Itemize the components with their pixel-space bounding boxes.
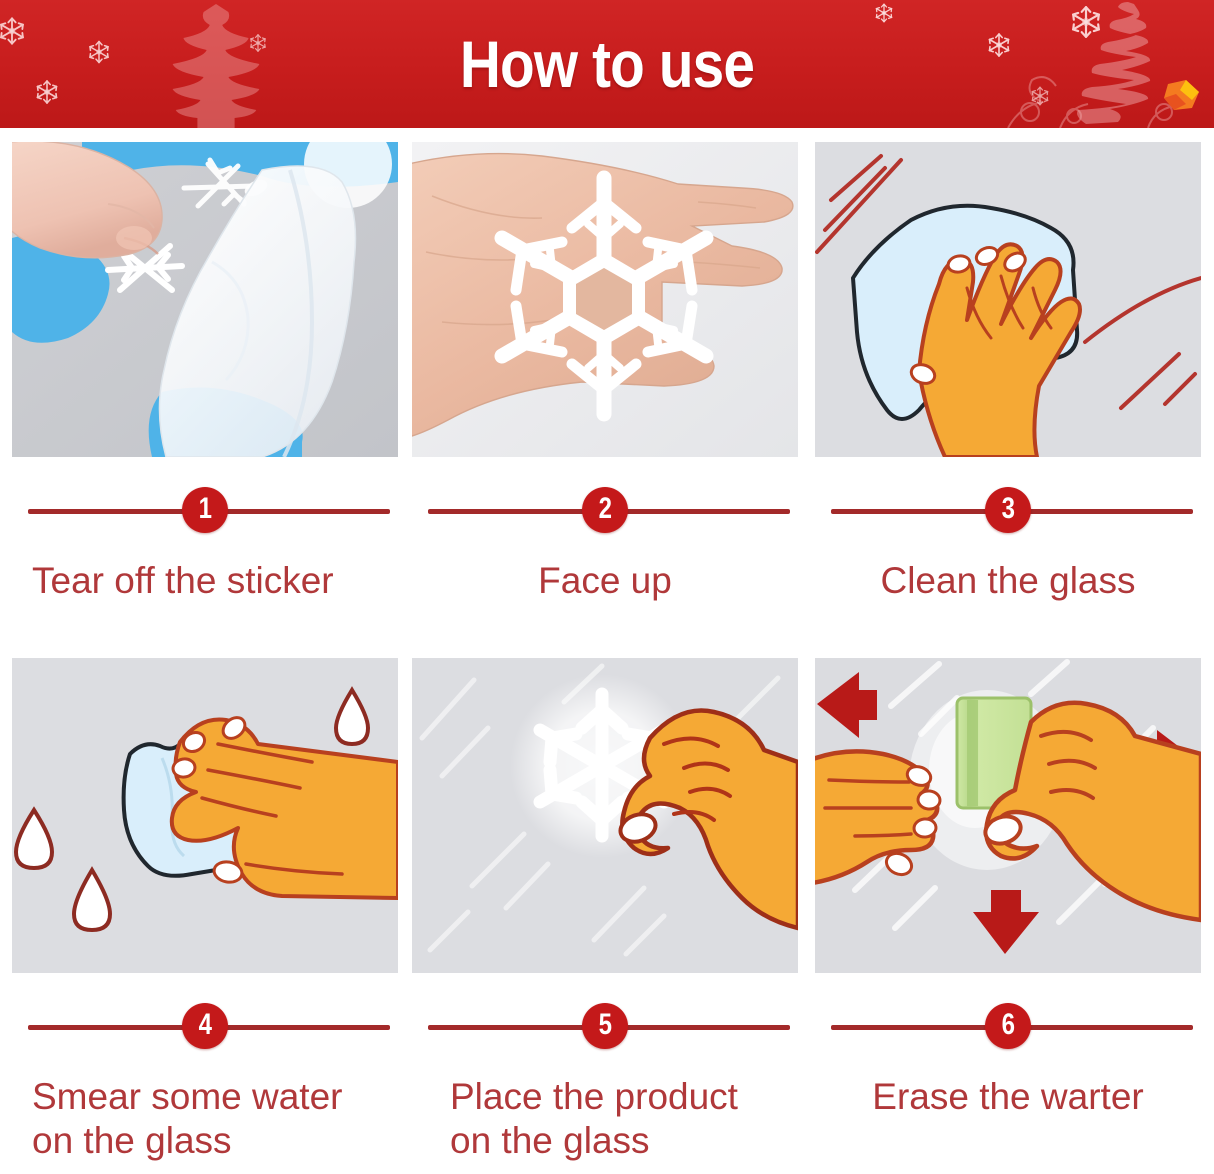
illustration-squeegee-smoothing — [815, 658, 1201, 973]
step-number-badge-1: 1 — [182, 487, 228, 533]
step-card-3: 3 Clean the glass — [815, 142, 1201, 603]
step-caption-6: Erase the warter — [815, 1075, 1201, 1119]
step-divider-6: 6 — [815, 1003, 1201, 1049]
steps-row-bottom: 4 Smear some water on the glass — [0, 658, 1214, 1174]
step-caption-4: Smear some water on the glass — [12, 1075, 398, 1162]
page-title: How to use — [85, 26, 1129, 102]
step-divider-3: 3 — [815, 487, 1201, 533]
step-number-badge-3: 3 — [985, 487, 1031, 533]
step-caption-3: Clean the glass — [815, 559, 1201, 603]
photo-peeling-backing-sheet — [12, 142, 398, 457]
step-card-5: 5 Place the product on the glass — [412, 658, 798, 1162]
step-divider-2: 2 — [412, 487, 798, 533]
step-number-badge-4: 4 — [182, 1003, 228, 1049]
step-caption-2: Face up — [412, 559, 798, 603]
steps-grid: 1 Tear off the sticker — [0, 128, 1214, 1174]
step-number-badge-5: 5 — [582, 1003, 628, 1049]
step-card-4: 4 Smear some water on the glass — [12, 658, 398, 1162]
photo-snowflake-in-palm — [412, 142, 798, 457]
illustration-cleaning-glass-with-cloth — [815, 142, 1201, 457]
illustration-placing-snowflake-on-glass — [412, 658, 798, 973]
step-number-badge-6: 6 — [985, 1003, 1031, 1049]
step-caption-5: Place the product on the glass — [412, 1075, 798, 1162]
header-banner: How to use — [0, 0, 1214, 128]
step-divider-4: 4 — [12, 1003, 398, 1049]
step-divider-1: 1 — [12, 487, 398, 533]
step-divider-5: 5 — [412, 1003, 798, 1049]
illustration-wet-cloth-with-droplets — [12, 658, 398, 973]
step-caption-1: Tear off the sticker — [12, 559, 398, 603]
step-card-1: 1 Tear off the sticker — [12, 142, 398, 603]
illustration-squeegee-cell: 6 Erase the warter — [815, 658, 1201, 1119]
steps-row-top: 1 Tear off the sticker — [0, 142, 1214, 642]
step-card-2: 2 Face up — [412, 142, 798, 603]
step-number-badge-2: 2 — [582, 487, 628, 533]
